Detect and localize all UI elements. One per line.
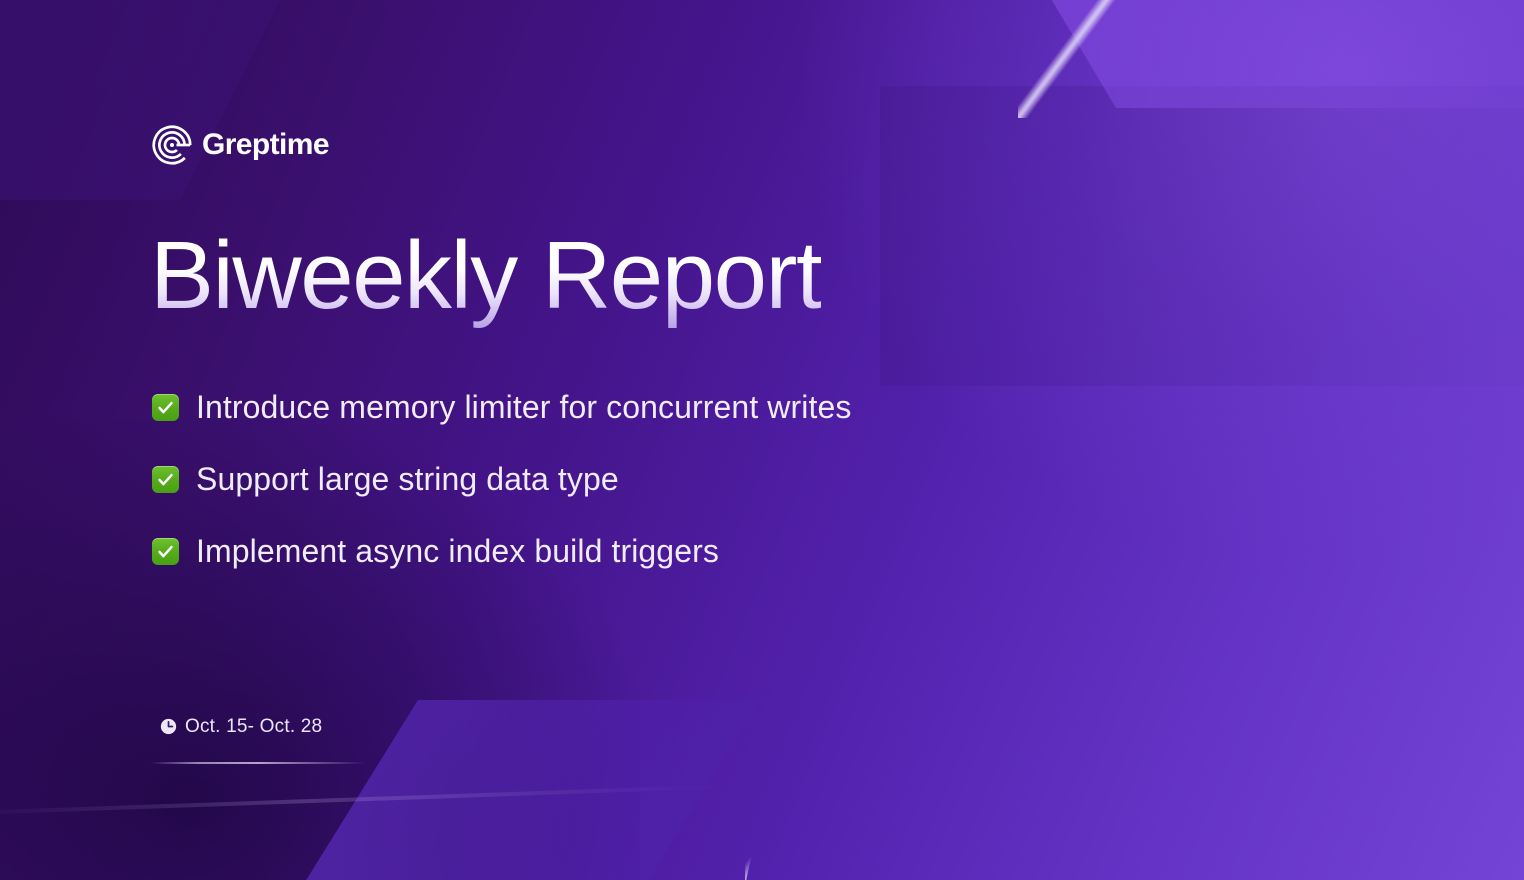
check-mark-button-icon [152, 394, 179, 421]
brand-logo: Greptime [151, 124, 329, 166]
date-range-row: Oct. 15- Oct. 28 [160, 717, 322, 736]
list-item-label: Introduce memory limiter for concurrent … [196, 391, 851, 423]
page-title: Biweekly Report [150, 222, 821, 330]
list-item-label: Support large string data type [196, 463, 619, 495]
check-mark-button-icon [152, 466, 179, 493]
footer-divider [150, 762, 366, 764]
clock-icon [160, 718, 177, 735]
brand-wordmark: Greptime [202, 130, 329, 160]
greptime-spiral-logo-icon [151, 124, 193, 166]
slide-content: Greptime Biweekly Report Introduce memor… [0, 0, 1524, 880]
checklist: Introduce memory limiter for concurrent … [152, 386, 851, 572]
list-item-label: Implement async index build triggers [196, 535, 719, 567]
date-range-label: Oct. 15- Oct. 28 [185, 717, 322, 736]
check-mark-button-icon [152, 538, 179, 565]
slide-canvas: Greptime Biweekly Report Introduce memor… [0, 0, 1524, 880]
list-item: Support large string data type [152, 458, 851, 500]
list-item: Implement async index build triggers [152, 530, 851, 572]
list-item: Introduce memory limiter for concurrent … [152, 386, 851, 428]
